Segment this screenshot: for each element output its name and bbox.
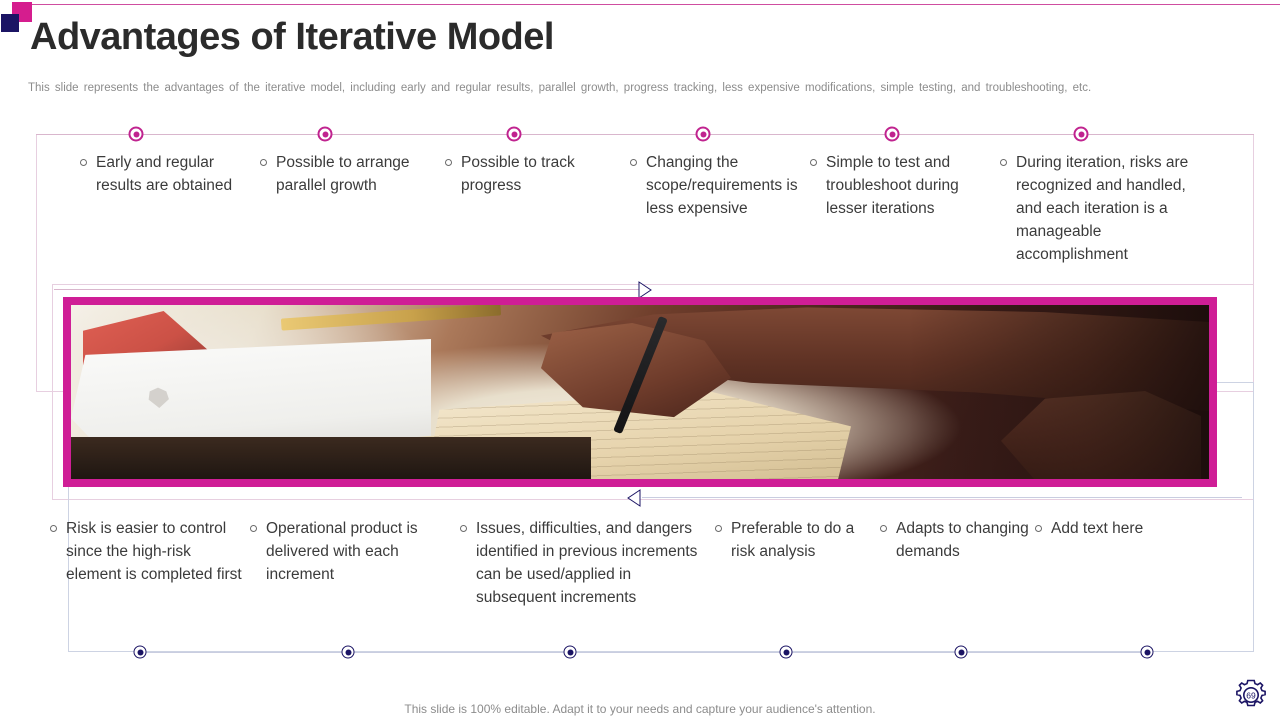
media-frame — [63, 297, 1217, 487]
bullet-circle-icon — [1000, 159, 1007, 166]
list-item-label: Changing the scope/requirements is less … — [646, 152, 810, 221]
photo-writing-in-notebook — [71, 305, 1209, 479]
bullet-circle-icon — [630, 159, 637, 166]
bullet-circle-icon — [460, 525, 467, 532]
footer-note: This slide is 100% editable. Adapt it to… — [0, 702, 1280, 716]
top-timeline-dot-4[interactable] — [696, 127, 711, 142]
list-item-label: Possible to track progress — [461, 152, 630, 198]
top-timeline-dot-3[interactable] — [507, 127, 522, 142]
top-timeline-dot-2[interactable] — [318, 127, 333, 142]
bullet-circle-icon — [50, 525, 57, 532]
list-item[interactable]: Adapts to changing demands — [880, 518, 1035, 564]
list-item-label: Early and regular results are obtained — [96, 152, 260, 198]
bottom-timeline-dot-1[interactable] — [134, 646, 147, 659]
bottom-timeline-dot-3[interactable] — [564, 646, 577, 659]
corner-decoration-navy — [1, 14, 19, 32]
top-timeline-line — [36, 134, 1254, 135]
top-timeline-dot-5[interactable] — [885, 127, 900, 142]
bullet-circle-icon — [715, 525, 722, 532]
bottom-timeline-dot-4[interactable] — [780, 646, 793, 659]
play-left-icon — [626, 489, 642, 507]
photo-pencil — [281, 305, 501, 331]
list-item[interactable]: During iteration, risks are recognized a… — [1000, 152, 1210, 267]
list-item[interactable]: Possible to arrange parallel growth — [260, 152, 445, 198]
bullet-circle-icon — [80, 159, 87, 166]
list-item[interactable]: Simple to test and troubleshoot during l… — [810, 152, 1000, 221]
bullet-circle-icon — [445, 159, 452, 166]
bottom-timeline-line — [140, 652, 1147, 653]
page-title: Advantages of Iterative Model — [30, 18, 554, 56]
bottom-timeline-dot-6[interactable] — [1141, 646, 1154, 659]
slide-canvas: Advantages of Iterative Model This slide… — [0, 0, 1280, 720]
list-item[interactable]: Early and regular results are obtained — [80, 152, 260, 198]
bullet-circle-icon — [880, 525, 887, 532]
list-item-label: Simple to test and troubleshoot during l… — [826, 152, 1000, 221]
bullet-circle-icon — [260, 159, 267, 166]
gear-badge-label: 69 — [1246, 690, 1256, 700]
list-item-label: During iteration, risks are recognized a… — [1016, 152, 1210, 267]
list-item-label: Preferable to do a risk analysis — [731, 518, 880, 564]
lower-connector-line — [642, 497, 1242, 498]
list-item-label: Adapts to changing demands — [896, 518, 1035, 564]
upper-connector-line — [54, 289, 639, 290]
list-item[interactable]: Add text here — [1035, 518, 1195, 541]
list-item[interactable]: Preferable to do a risk analysis — [715, 518, 880, 564]
list-item[interactable]: Issues, difficulties, and dangers identi… — [460, 518, 715, 610]
top-advantages-row: Early and regular results are obtained P… — [80, 152, 1260, 267]
list-item[interactable]: Risk is easier to control since the high… — [50, 518, 250, 587]
list-item-label: Add text here — [1051, 518, 1143, 541]
top-timeline-dot-6[interactable] — [1074, 127, 1089, 142]
bullet-circle-icon — [810, 159, 817, 166]
photo-table — [71, 437, 591, 479]
bottom-advantages-row: Risk is easier to control since the high… — [50, 518, 1260, 610]
gear-icon[interactable]: 69 — [1230, 674, 1272, 716]
bullet-circle-icon — [1035, 525, 1042, 532]
list-item-label: Operational product is delivered with ea… — [266, 518, 460, 587]
photo-shadow-overlay — [909, 305, 1209, 479]
list-item-label: Issues, difficulties, and dangers identi… — [476, 518, 715, 610]
list-item[interactable]: Changing the scope/requirements is less … — [630, 152, 810, 221]
page-subtitle: This slide represents the advantages of … — [28, 82, 1248, 94]
list-item-label: Risk is easier to control since the high… — [66, 518, 250, 587]
list-item-label: Possible to arrange parallel growth — [276, 152, 445, 198]
top-timeline-dot-1[interactable] — [129, 127, 144, 142]
bottom-timeline-dot-5[interactable] — [955, 646, 968, 659]
list-item[interactable]: Possible to track progress — [445, 152, 630, 198]
list-item[interactable]: Operational product is delivered with ea… — [250, 518, 460, 587]
bottom-timeline-dot-2[interactable] — [342, 646, 355, 659]
header-top-rule — [30, 4, 1280, 5]
bullet-circle-icon — [250, 525, 257, 532]
